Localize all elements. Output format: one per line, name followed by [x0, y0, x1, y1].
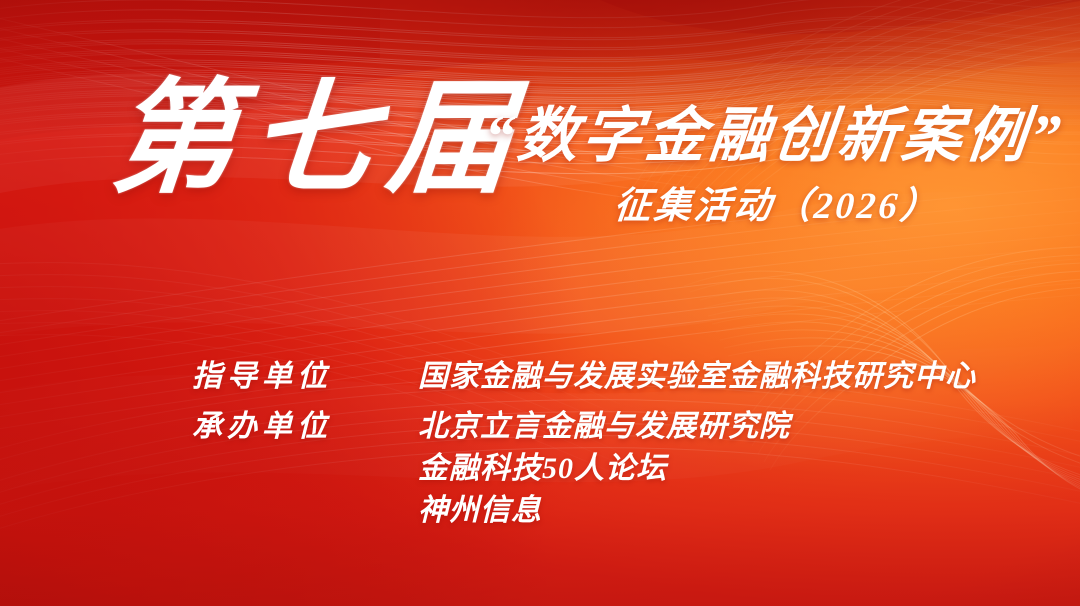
organization-row-host: 承办单位 北京立言金融与发展研究院 金融科技50人论坛 神州信息 [192, 406, 1022, 532]
poster-canvas: 第七届 “数字金融创新案例” 征集活动（2026） 指导单位 国家金融与发展实验… [0, 0, 1080, 606]
organization-values-host: 北京立言金融与发展研究院 金融科技50人论坛 神州信息 [418, 406, 1022, 532]
poster-title-edition: 第七届 [107, 78, 532, 202]
organization-value: 国家金融与发展实验室金融科技研究中心 [418, 356, 1022, 398]
poster-title-theme: “数字金融创新案例” [481, 106, 1067, 166]
organization-row-guidance: 指导单位 国家金融与发展实验室金融科技研究中心 [192, 356, 1022, 398]
organization-label-guidance: 指导单位 [192, 356, 418, 398]
organization-value: 北京立言金融与发展研究院 [418, 406, 1022, 448]
poster-content: 第七届 “数字金融创新案例” 征集活动（2026） 指导单位 国家金融与发展实验… [0, 0, 1080, 606]
organizations-block: 指导单位 国家金融与发展实验室金融科技研究中心 承办单位 北京立言金融与发展研究… [192, 356, 1022, 532]
title-block: 第七届 “数字金融创新案例” 征集活动（2026） [0, 84, 1080, 260]
organization-values-guidance: 国家金融与发展实验室金融科技研究中心 [418, 356, 1022, 398]
poster-subtitle-campaign: 征集活动（2026） [612, 188, 941, 225]
organization-value: 神州信息 [418, 490, 1022, 532]
organization-value: 金融科技50人论坛 [418, 448, 1022, 490]
organization-label-host: 承办单位 [192, 406, 418, 448]
